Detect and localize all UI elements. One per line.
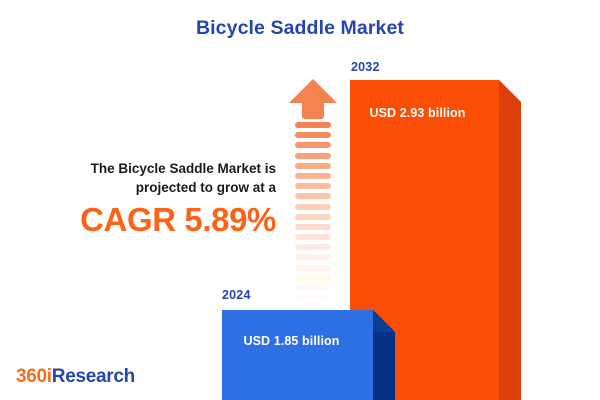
cagr-callout: The Bicycle Saddle Market is projected t… bbox=[18, 160, 276, 238]
arrow-stripe bbox=[295, 275, 331, 281]
bar-2024[interactable]: USD 1.85 billion bbox=[222, 310, 395, 400]
page-title: Bicycle Saddle Market bbox=[0, 17, 600, 40]
arrow-stripe bbox=[295, 193, 331, 199]
bar-year-label-2032: 2032 bbox=[351, 60, 380, 74]
cagr-value-text: CAGR 5.89% bbox=[18, 203, 276, 238]
brand-logo[interactable]: 360iResearch bbox=[16, 366, 135, 388]
arrow-stripe bbox=[295, 163, 331, 169]
arrow-stripe bbox=[295, 183, 331, 189]
arrow-stripe bbox=[295, 173, 331, 179]
logo-text-360i: 360i bbox=[16, 366, 52, 387]
arrow-stripe bbox=[295, 285, 331, 291]
arrow-stripe bbox=[295, 254, 331, 260]
bar-value-label-2024: USD 1.85 billion bbox=[205, 334, 378, 348]
bar-2024-shape bbox=[222, 310, 395, 400]
arrow-stripe bbox=[295, 204, 331, 210]
arrow-stripe bbox=[295, 295, 331, 301]
arrow-stripe-stack bbox=[295, 122, 331, 290]
infographic-canvas: Bicycle Saddle Market The Bicycle Saddle… bbox=[0, 0, 600, 400]
up-arrow-icon bbox=[288, 78, 338, 290]
cagr-lead-text: The Bicycle Saddle Market is projected t… bbox=[18, 160, 276, 197]
logo-text-research: Research bbox=[52, 366, 135, 387]
arrow-stripe bbox=[295, 265, 331, 271]
arrow-stripe bbox=[295, 153, 331, 159]
bar-value-label-2032: USD 2.93 billion bbox=[332, 106, 503, 120]
bar-year-label-2024: 2024 bbox=[222, 288, 251, 302]
arrow-stripe bbox=[295, 132, 331, 138]
arrow-head-shape bbox=[288, 78, 338, 120]
arrow-stripe bbox=[295, 214, 331, 220]
arrow-stripe bbox=[295, 142, 331, 148]
arrow-stripe bbox=[295, 224, 331, 230]
arrow-stripe bbox=[295, 234, 331, 240]
arrow-stripe bbox=[295, 244, 331, 250]
arrow-stripe bbox=[295, 122, 331, 128]
